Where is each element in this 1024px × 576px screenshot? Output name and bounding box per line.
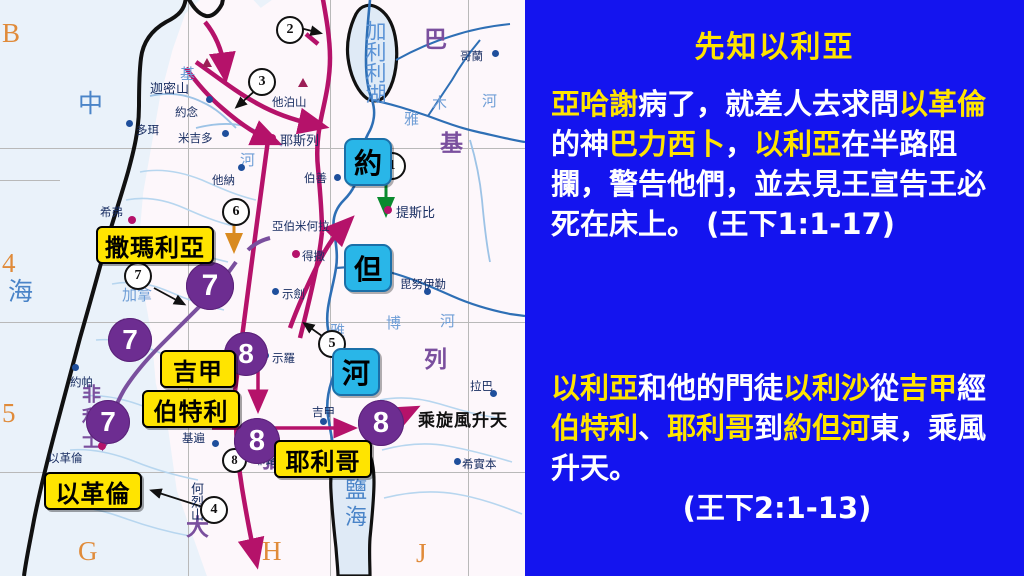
- highlighted-text: 吉甲: [899, 371, 957, 405]
- dot-megiddo: [222, 130, 229, 137]
- circled-number-2[interactable]: 2: [276, 16, 304, 44]
- label-joppa: 約帕: [70, 374, 93, 390]
- grid-label-j: J: [416, 538, 427, 569]
- callout-gilgal[interactable]: 吉甲: [160, 350, 236, 388]
- dot-gibeon: [212, 440, 219, 447]
- dot-joppa: [72, 364, 79, 371]
- circled-number-7[interactable]: 7: [124, 262, 152, 290]
- circled-number-6[interactable]: 6: [222, 198, 250, 226]
- dot-beth-shan: [334, 174, 341, 181]
- label-jabbok-river-3: 河: [440, 310, 455, 331]
- label-mediterranean-2: 海: [8, 272, 33, 308]
- highlighted-text: 約但河: [783, 411, 870, 445]
- region-gilead: 列: [424, 340, 449, 374]
- body-text: ，: [725, 127, 754, 161]
- grid-label-5: 5: [2, 398, 16, 429]
- callout-jericho[interactable]: 耶利哥: [274, 440, 372, 478]
- region-geshur: 基: [440, 124, 465, 158]
- dot-golan: [492, 50, 499, 57]
- label-shiloh: 示羅: [272, 350, 295, 366]
- label-rabbah: 拉巴: [470, 378, 493, 394]
- label-jabbok-river-2: 博: [386, 312, 401, 333]
- text-panel: 先知以利亞 亞哈謝病了，就差人去求問以革倫的神巴力西卜，以利亞在半路阻攔，警告他…: [525, 0, 1024, 576]
- label-megiddo: 米吉多: [178, 130, 213, 146]
- label-tirzah: 得撒: [302, 248, 325, 264]
- label-gibeon: 基遍: [182, 430, 205, 446]
- callout-jordan-yue[interactable]: 約: [344, 138, 392, 186]
- page-title: 先知以利亞: [525, 22, 1024, 66]
- label-yarmuk-river-3: 雅: [404, 108, 419, 129]
- region-bashan: 巴: [424, 20, 449, 54]
- body-text: 病了，就差人去求問: [638, 87, 899, 121]
- label-yarmuk-river-1: 木: [432, 92, 447, 113]
- label-yarmuk-river-2: 河: [482, 90, 497, 111]
- mount-tabor-marker: [298, 78, 308, 87]
- body-text: 的神: [551, 127, 609, 161]
- body-text: 從: [870, 371, 899, 405]
- callout-samaria[interactable]: 撒瑪利亞: [96, 226, 214, 264]
- purple-badge-7-a[interactable]: 7: [186, 262, 234, 310]
- label-dor: 多珥: [136, 122, 159, 138]
- dot-taanach: [238, 164, 245, 171]
- label-kishon-river: 河: [236, 152, 257, 192]
- label-abel-meholah: 亞伯米何拉: [272, 218, 330, 234]
- label-jokneam: 約念: [175, 104, 198, 120]
- highlighted-text: 以利亞: [551, 371, 638, 405]
- dot-dor: [126, 120, 133, 127]
- callout-jordan-he[interactable]: 河: [332, 348, 380, 396]
- dot-abel-meholah: [340, 222, 348, 230]
- dot-shechem: [272, 288, 279, 295]
- highlighted-text: 伯特利: [551, 411, 638, 445]
- body-text: 和他的門徒: [638, 371, 783, 405]
- label-beth-shan: 伯善: [304, 170, 327, 186]
- dot-jezreel: [268, 134, 276, 142]
- circled-number-4[interactable]: 4: [200, 496, 228, 524]
- purple-badge-7-b[interactable]: 7: [108, 318, 152, 362]
- body-text: 經: [957, 371, 986, 405]
- highlighted-text: 以革倫: [899, 87, 986, 121]
- paragraph-2: 以利亞和他的門徒以利沙從吉甲經伯特利、耶利哥到約但河東，乘風升天。(王下2:1-…: [551, 368, 1003, 528]
- highlighted-text: 以利亞: [754, 127, 841, 161]
- label-sea-of-galilee: 加利利湖: [360, 20, 390, 112]
- dot-tirzah: [292, 250, 300, 258]
- callout-jordan-dan[interactable]: 但: [344, 244, 392, 292]
- slide-root: B 4 5 G H J 中 海 加利利湖 鹽海 木 河 雅 雅 博 河 河 基 …: [0, 0, 1024, 576]
- dot-heshbon: [454, 458, 461, 465]
- label-tishbe: 提斯比: [396, 202, 435, 221]
- callout-ekron[interactable]: 以革倫: [44, 472, 142, 510]
- dot-hepher: [128, 216, 136, 224]
- label-shechem: 示劍: [282, 286, 305, 302]
- paragraph-1: 亞哈謝病了，就差人去求問以革倫的神巴力西卜，以利亞在半路阻攔，警告他們，並去見王…: [551, 84, 1003, 244]
- map-panel: B 4 5 G H J 中 海 加利利湖 鹽海 木 河 雅 雅 博 河 河 基 …: [0, 0, 525, 576]
- label-penuel: 毘努伊勒: [400, 276, 446, 292]
- scripture-reference: (王下2:1-13): [551, 488, 1003, 528]
- grid-label-b: B: [2, 18, 20, 49]
- label-jezreel: 耶斯列: [280, 130, 319, 149]
- highlighted-text: 亞哈謝: [551, 87, 638, 121]
- grid-label-g: G: [78, 536, 98, 567]
- label-gilgal-small: 吉甲: [312, 404, 335, 420]
- highlighted-text: 巴力西卜: [609, 127, 725, 161]
- purple-badge-7-c[interactable]: 7: [86, 400, 130, 444]
- label-mount-tabor: 他泊山: [272, 94, 307, 110]
- highlighted-text: 耶利哥: [667, 411, 754, 445]
- annotation-whirlwind: 乘旋風升天: [418, 406, 508, 431]
- label-heshbon: 希實本: [462, 456, 497, 472]
- circled-number-3[interactable]: 3: [248, 68, 276, 96]
- body-text: 、: [638, 411, 667, 445]
- dot-tishbe: [384, 206, 392, 214]
- dot-jokneam: [206, 96, 213, 103]
- grid-label-h: H: [262, 536, 282, 567]
- highlighted-text: 以利沙: [783, 371, 870, 405]
- label-mount-carmel: 迦密山: [150, 78, 189, 97]
- callout-bethel[interactable]: 伯特利: [142, 390, 240, 428]
- mount-carmel-marker: [202, 58, 212, 67]
- label-taanach: 他納: [212, 172, 235, 188]
- body-text: 到: [754, 411, 783, 445]
- label-mediterranean-1: 中: [78, 84, 103, 120]
- label-salt-sea: 鹽海: [338, 478, 370, 570]
- label-golan: 哥蘭: [460, 48, 483, 64]
- label-ekron-small: 以革倫: [48, 450, 83, 466]
- label-hepher: 希弗: [100, 204, 123, 220]
